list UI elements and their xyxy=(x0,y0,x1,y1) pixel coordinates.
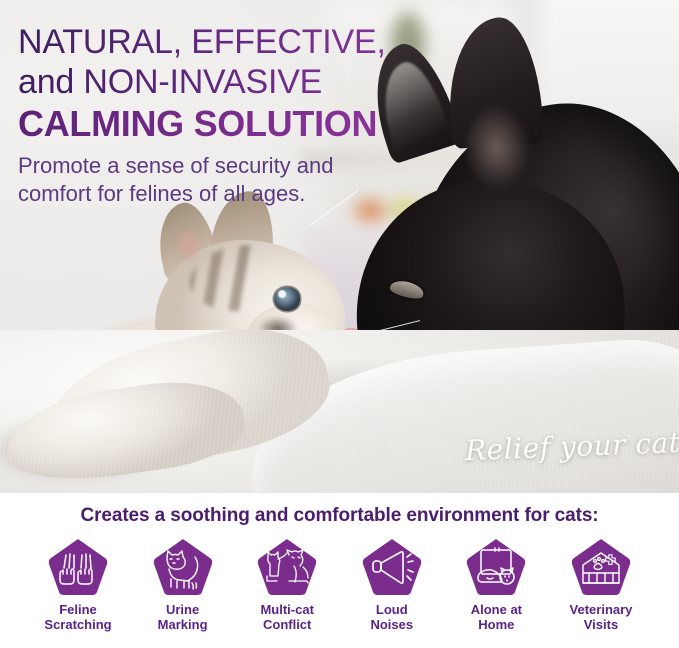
feature-label-urine-marking: Urine Marking xyxy=(158,602,208,632)
headline-line-1: NATURAL, EFFECTIVE, xyxy=(18,22,448,62)
two-cats-conflict-icon xyxy=(256,537,318,597)
cat-scratching-paws-icon xyxy=(47,537,109,597)
feature-label-loud-noises: Loud Noises xyxy=(370,602,413,632)
feature-label-alone-at-home: Alone at Home xyxy=(471,602,522,632)
feature-item-veterinary-visits[interactable]: Veterinary Visits xyxy=(553,537,649,632)
feature-item-multi-cat-conflict[interactable]: Multi-cat Conflict xyxy=(239,537,335,632)
cat-urine-marking-icon xyxy=(152,537,214,597)
kitten-eye-shine xyxy=(278,290,286,298)
feature-icon-row: Feline Scratching xyxy=(0,537,679,632)
subheadline-block: Promote a sense of security and comfort … xyxy=(18,152,448,208)
feature-item-feline-scratching[interactable]: Feline Scratching xyxy=(30,537,126,632)
feature-label-feline-scratching: Feline Scratching xyxy=(44,602,111,632)
product-marketing-image: NATURAL, EFFECTIVE, and NON-INVASIVE CAL… xyxy=(0,0,679,648)
headline-block: NATURAL, EFFECTIVE, and NON-INVASIVE CAL… xyxy=(18,22,448,208)
veterinary-clinic-icon xyxy=(570,537,632,597)
blanket xyxy=(0,330,679,493)
feature-label-multi-cat-conflict: Multi-cat Conflict xyxy=(260,602,313,632)
feature-item-urine-marking[interactable]: Urine Marking xyxy=(135,537,231,632)
subheadline-line-1: Promote a sense of security and xyxy=(18,152,448,180)
loud-horn-noise-icon xyxy=(361,537,423,597)
feature-panel: Creates a soothing and comfortable envir… xyxy=(0,493,679,648)
feature-label-veterinary-visits: Veterinary Visits xyxy=(570,602,633,632)
subheadline-line-2: comfort for felines of all ages. xyxy=(18,180,448,208)
feature-panel-title: Creates a soothing and comfortable envir… xyxy=(0,505,679,527)
headline-line-3: CALMING SOLUTION xyxy=(18,102,448,146)
feature-item-alone-at-home[interactable]: Alone at Home xyxy=(448,537,544,632)
cat-alone-window-icon xyxy=(465,537,527,597)
hero-photo: NATURAL, EFFECTIVE, and NON-INVASIVE CAL… xyxy=(0,0,679,493)
headline-line-2: and NON-INVASIVE xyxy=(18,62,448,102)
feature-item-loud-noises[interactable]: Loud Noises xyxy=(344,537,440,632)
fur-texture xyxy=(0,330,679,493)
